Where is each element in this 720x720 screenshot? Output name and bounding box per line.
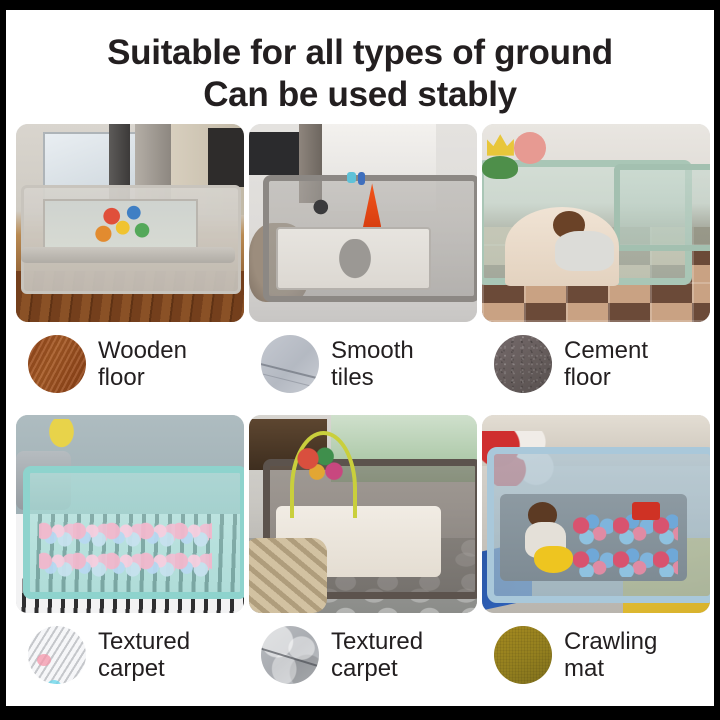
ground-type-grid: Wooden floor Smooth tiles: [6, 116, 714, 706]
label-line-1: Crawling: [564, 628, 657, 655]
playpen-side-graphic: [614, 164, 710, 251]
playpen-rail-graphic: [21, 247, 235, 263]
poster-card: Suitable for all types of ground Can be …: [6, 10, 714, 706]
grid-row-top: Wooden floor Smooth tiles: [16, 124, 704, 415]
stone-carpet-swatch: [261, 626, 319, 684]
cement-speckle-swatch: [494, 335, 552, 393]
photo-row-top: [16, 124, 704, 322]
label-line-1: Smooth: [331, 337, 414, 364]
grid-cell-textured-carpet-b: [249, 415, 477, 613]
flowers-graphic: [43, 419, 79, 455]
elephant-motif-graphic: [336, 239, 375, 283]
photo-wooden-floor: [16, 124, 244, 322]
crawling-mat-swatch: [494, 626, 552, 684]
label-cement-floor: Cement floor: [564, 337, 648, 391]
label-textured-carpet-b: Textured carpet: [331, 628, 423, 682]
grid-cell-wooden-floor: [16, 124, 244, 322]
page-title: Suitable for all types of ground Can be …: [6, 10, 714, 116]
label-wooden-floor: Wooden floor: [98, 337, 187, 391]
grid-cell-crawling-mat: [482, 415, 710, 613]
activity-toy-graphic: [91, 203, 159, 247]
caption-cell-textured-carpet-a: Textured carpet: [16, 613, 244, 697]
smooth-tile-swatch: [261, 335, 319, 393]
infographic-poster: Suitable for all types of ground Can be …: [0, 0, 720, 720]
caption-row-bottom: Textured carpet Textured carpet: [16, 613, 704, 697]
ribbed-carpet-swatch: [28, 626, 86, 684]
photo-textured-carpet-a: [16, 415, 244, 613]
label-line-2: carpet: [98, 655, 165, 682]
hanging-toy-graphic: [358, 172, 365, 186]
hanging-toys-graphic: [295, 447, 345, 487]
caption-row-top: Wooden floor Smooth tiles: [16, 322, 704, 406]
toy-car-graphic: [632, 502, 659, 520]
label-crawling-mat: Crawling mat: [564, 628, 657, 682]
doorway-graphic: [208, 128, 244, 187]
label-line-2: floor: [98, 364, 145, 391]
grid-row-bottom: Textured carpet Textured carpet: [16, 415, 704, 706]
baby-graphic: [555, 231, 614, 271]
toys-graphic: [308, 199, 340, 215]
label-smooth-tiles: Smooth tiles: [331, 337, 414, 391]
label-line-1: Wooden: [98, 337, 187, 364]
caption-cell-smooth-tiles: Smooth tiles: [249, 322, 477, 406]
label-textured-carpet-a: Textured carpet: [98, 628, 190, 682]
hanging-toy-graphic: [347, 172, 356, 184]
ball-pit-graphic: [39, 522, 212, 581]
caption-cell-textured-carpet-b: Textured carpet: [249, 613, 477, 697]
label-line-1: Cement: [564, 337, 648, 364]
photo-row-bottom: [16, 415, 704, 613]
television-graphic: [249, 132, 299, 176]
label-line-1: Textured: [98, 628, 190, 655]
label-line-2: tiles: [331, 364, 374, 391]
photo-textured-carpet-b: [249, 415, 477, 613]
photo-smooth-tiles: [249, 124, 477, 322]
green-toy-graphic: [482, 156, 518, 180]
caption-cell-cement-floor: Cement floor: [482, 322, 710, 406]
title-line-1: Suitable for all types of ground: [6, 32, 714, 74]
caption-cell-wooden-floor: Wooden floor: [16, 322, 244, 406]
label-line-1: Textured: [331, 628, 423, 655]
label-line-2: mat: [564, 655, 604, 682]
floor-cushion-graphic: [249, 538, 327, 613]
grid-cell-cement-floor: [482, 124, 710, 322]
label-line-2: floor: [564, 364, 611, 391]
wood-grain-swatch: [28, 335, 86, 393]
grid-cell-textured-carpet-a: [16, 415, 244, 613]
label-line-2: carpet: [331, 655, 398, 682]
photo-cement-floor: [482, 124, 710, 322]
ball-pit-graphic: [573, 514, 678, 577]
pink-toy-graphic: [514, 132, 546, 164]
grid-cell-smooth-tiles: [249, 124, 477, 322]
photo-crawling-mat: [482, 415, 710, 613]
caption-cell-crawling-mat: Crawling mat: [482, 613, 710, 697]
title-line-2: Can be used stably: [6, 74, 714, 116]
